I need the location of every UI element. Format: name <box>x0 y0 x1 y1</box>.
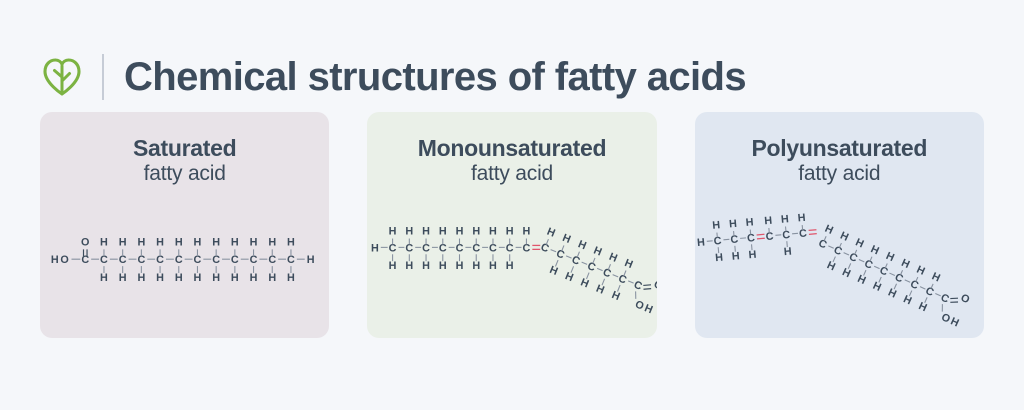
svg-text:C: C <box>816 237 828 251</box>
svg-text:H: H <box>579 276 591 290</box>
svg-text:H: H <box>855 273 867 287</box>
svg-text:H: H <box>119 236 127 248</box>
svg-text:H: H <box>473 226 481 238</box>
saturated-chain: H O C O C H H <box>51 236 315 283</box>
svg-text:H: H <box>731 250 740 263</box>
svg-text:H: H <box>137 272 145 284</box>
svg-text:C: C <box>877 264 889 278</box>
svg-text:H: H <box>595 283 607 297</box>
svg-text:H: H <box>901 293 913 307</box>
svg-text:H: H <box>456 260 464 272</box>
kinked-tail: C H C H H C H H <box>533 226 657 317</box>
svg-text:H: H <box>489 260 497 272</box>
svg-text:H: H <box>797 212 806 225</box>
svg-text:H: H <box>608 251 620 265</box>
molecule-monounsaturated: H C H H C H H C H H <box>367 204 656 338</box>
card-subtitle-saturated: fatty acid <box>40 162 329 187</box>
svg-text:H: H <box>783 246 792 259</box>
svg-text:H: H <box>175 236 183 248</box>
svg-text:H: H <box>745 216 754 229</box>
svg-text:H: H <box>899 257 911 271</box>
svg-text:H: H <box>156 236 164 248</box>
svg-text:H: H <box>231 272 239 284</box>
svg-text:H: H <box>763 215 772 228</box>
svg-text:H: H <box>371 242 379 254</box>
svg-text:H: H <box>592 245 604 259</box>
svg-text:H: H <box>868 243 880 257</box>
svg-text:H: H <box>930 270 942 284</box>
svg-text:C: C <box>847 251 859 265</box>
svg-text:H: H <box>100 236 108 248</box>
svg-text:C: C <box>586 260 598 274</box>
monounsaturated-chain: H C H H C H H C H H <box>371 226 656 317</box>
svg-text:H: H <box>250 236 258 248</box>
svg-text:H: H <box>287 236 295 248</box>
svg-text:H: H <box>422 226 430 238</box>
card-saturated: Saturated fatty acid H O C O C <box>40 112 329 338</box>
page-header: Chemical structures of fatty acids <box>0 0 1024 110</box>
svg-text:H: H <box>156 272 164 284</box>
svg-text:H: H <box>712 219 721 232</box>
card-monounsaturated: Monounsaturated fatty acid H C H H C H <box>367 112 656 338</box>
svg-text:C: C <box>570 254 582 268</box>
svg-text:C: C <box>601 266 613 280</box>
svg-text:H: H <box>51 254 59 266</box>
card-title-monounsaturated: Monounsaturated <box>367 136 656 162</box>
page-title: Chemical structures of fatty acids <box>124 57 746 97</box>
svg-text:C: C <box>539 241 551 255</box>
svg-text:H: H <box>175 272 183 284</box>
svg-text:H: H <box>564 270 576 284</box>
svg-text:O: O <box>60 254 68 266</box>
card-title-polyunsaturated: Polyunsaturated <box>695 136 984 162</box>
svg-text:C: C <box>617 273 629 287</box>
svg-text:H: H <box>506 260 514 272</box>
svg-text:H: H <box>548 264 560 278</box>
svg-text:H: H <box>884 250 896 264</box>
card-subtitle-polyunsaturated: fatty acid <box>695 162 984 187</box>
svg-text:H: H <box>610 289 622 303</box>
svg-text:H: H <box>406 260 414 272</box>
svg-text:H: H <box>456 226 464 238</box>
svg-text:H: H <box>886 287 898 301</box>
svg-text:H: H <box>916 300 928 314</box>
svg-text:H: H <box>523 226 531 238</box>
svg-text:C: C <box>893 271 905 285</box>
svg-text:H: H <box>696 236 705 249</box>
svg-text:H: H <box>914 264 926 278</box>
svg-text:H: H <box>119 272 127 284</box>
svg-text:H: H <box>748 249 757 262</box>
svg-text:H: H <box>137 236 145 248</box>
svg-text:H: H <box>212 272 220 284</box>
svg-text:H: H <box>728 218 737 231</box>
fatty-acid-card-row: Saturated fatty acid H O C O C <box>0 112 1024 338</box>
svg-text:O: O <box>652 278 656 292</box>
svg-text:H: H <box>840 266 852 280</box>
molecule-saturated: H O C O C H H <box>40 204 329 338</box>
svg-text:H: H <box>838 230 850 244</box>
svg-text:H: H <box>231 236 239 248</box>
card-subtitle-monounsaturated: fatty acid <box>367 162 656 187</box>
svg-text:H: H <box>780 213 789 226</box>
svg-text:H: H <box>439 260 447 272</box>
svg-text:H: H <box>871 280 883 294</box>
svg-text:H: H <box>194 272 202 284</box>
svg-text:H: H <box>307 254 315 266</box>
svg-text:H: H <box>439 226 447 238</box>
svg-text:H: H <box>268 236 276 248</box>
svg-text:H: H <box>643 302 655 316</box>
svg-text:H: H <box>287 272 295 284</box>
svg-text:H: H <box>489 226 497 238</box>
svg-text:H: H <box>853 236 865 250</box>
svg-text:C: C <box>923 285 935 299</box>
svg-text:H: H <box>714 252 723 265</box>
svg-text:H: H <box>561 232 573 246</box>
header-divider <box>102 54 104 100</box>
svg-text:H: H <box>250 272 258 284</box>
svg-text:H: H <box>623 257 635 271</box>
svg-text:H: H <box>406 226 414 238</box>
svg-text:H: H <box>506 226 514 238</box>
svg-text:H: H <box>212 236 220 248</box>
svg-text:H: H <box>473 260 481 272</box>
molecule-polyunsaturated: H C H H C H H C <box>695 204 984 338</box>
svg-text:H: H <box>100 272 108 284</box>
svg-text:H: H <box>389 226 397 238</box>
svg-text:O: O <box>81 236 89 248</box>
leaf-heart-icon <box>40 55 84 99</box>
svg-text:H: H <box>577 238 589 252</box>
card-title-saturated: Saturated <box>40 136 329 162</box>
svg-text:O: O <box>958 292 971 306</box>
svg-text:C: C <box>555 247 567 261</box>
svg-text:H: H <box>194 236 202 248</box>
svg-text:C: C <box>81 254 89 266</box>
svg-text:C: C <box>908 278 920 292</box>
card-polyunsaturated: Polyunsaturated fatty acid H C H H C <box>695 112 984 338</box>
svg-text:C: C <box>831 244 843 258</box>
svg-text:H: H <box>422 260 430 272</box>
svg-text:C: C <box>632 279 644 293</box>
svg-text:H: H <box>825 259 837 273</box>
polyunsaturated-chain: H C H H C H H C <box>695 211 974 330</box>
kinked-tail: C H C H H C H H <box>809 223 974 330</box>
svg-text:C: C <box>862 258 874 272</box>
svg-text:H: H <box>545 226 557 240</box>
svg-text:H: H <box>823 223 835 237</box>
svg-text:C: C <box>938 292 950 306</box>
svg-text:H: H <box>389 260 397 272</box>
svg-text:H: H <box>268 272 276 284</box>
